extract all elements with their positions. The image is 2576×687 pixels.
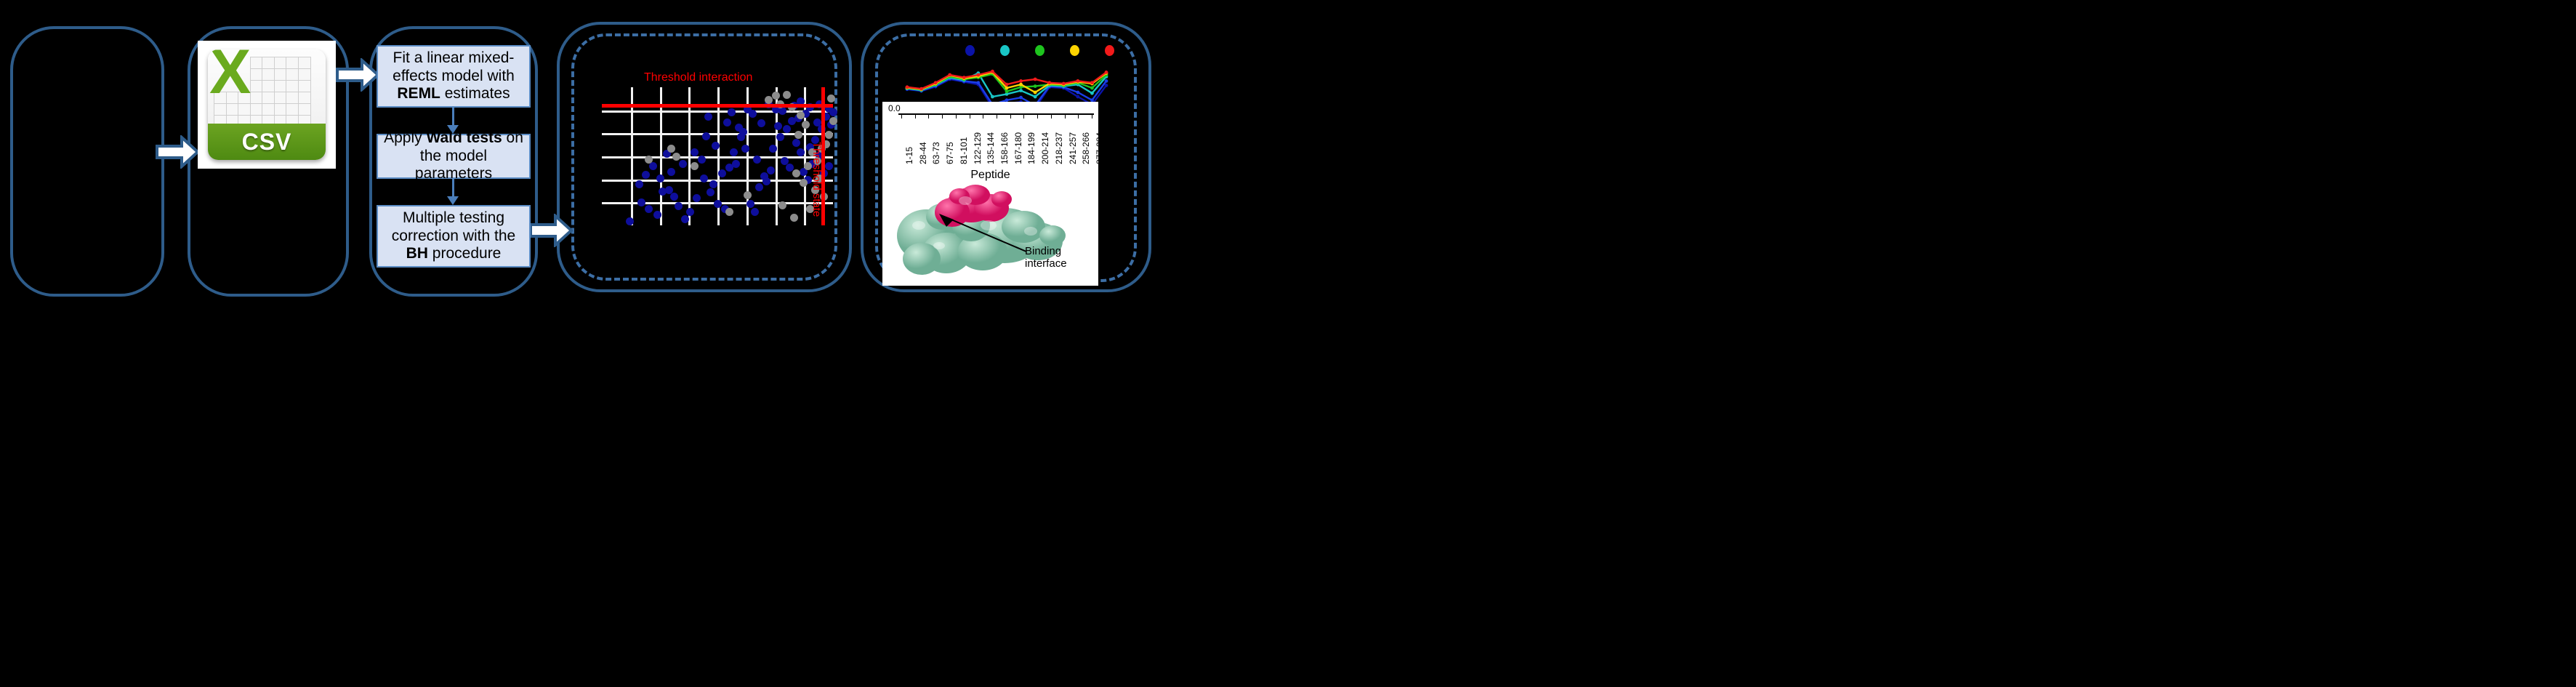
peptide-tick-label: 28-44 <box>918 142 928 164</box>
scatter-point-state <box>829 117 837 125</box>
flow-arrow-csv-to-stats <box>336 58 379 92</box>
legend-dot-green <box>1035 45 1045 56</box>
binding-interface-line2: interface <box>1025 258 1067 270</box>
line-marker-yellow <box>1005 87 1009 90</box>
x-axis-tick <box>997 113 997 118</box>
x-axis-ticks <box>898 113 1094 119</box>
scatter-gridline-v <box>660 87 662 225</box>
scatter-point-interaction <box>700 174 708 182</box>
threshold-interaction-label: Threshold interaction <box>644 71 752 84</box>
legend-dot-yellow <box>1070 45 1079 56</box>
line-marker-red <box>976 73 980 77</box>
scatter-point-interaction <box>645 205 653 213</box>
scatter-point-interaction <box>667 168 675 176</box>
scatter-gridline-v <box>631 87 633 225</box>
line-marker-blue <box>1019 96 1023 100</box>
scatter-point-state <box>667 145 675 153</box>
scatter-gridline-v <box>688 87 691 225</box>
line-marker-cyan <box>1090 92 1094 95</box>
line-marker-red <box>919 87 923 91</box>
csv-letter-x: X <box>209 49 254 102</box>
binding-interface-arrow <box>936 211 1031 256</box>
legend-dot-navy <box>965 45 975 56</box>
scatter-point-interaction <box>670 193 678 201</box>
scatter-point-state <box>794 131 802 139</box>
scatter-point-interaction <box>712 142 720 150</box>
x-axis-tick <box>915 113 916 118</box>
line-marker-green <box>1005 89 1009 93</box>
x-axis-label: Peptide <box>970 169 1010 182</box>
x-axis-tick <box>1023 113 1024 118</box>
peptide-tick-label: 67-75 <box>945 142 955 164</box>
scatter-point-interaction <box>714 200 722 208</box>
scatter-point-state <box>783 91 791 99</box>
scatter-point-interaction <box>732 160 740 168</box>
scatter-point-state <box>765 96 773 104</box>
scatter-point-interaction <box>792 139 800 147</box>
scatter-point-interaction <box>702 132 710 140</box>
peptide-tick-label: 135-144 <box>986 132 996 164</box>
line-marker-red <box>906 85 909 89</box>
x-axis-tick <box>983 113 983 118</box>
line-marker-blue <box>1105 79 1108 83</box>
scatter-point-interaction <box>686 208 694 216</box>
scatter-point-interaction <box>649 162 657 170</box>
line-marker-red <box>1005 83 1009 87</box>
scatter-point-interaction <box>635 180 643 188</box>
binding-interface-line1: Binding <box>1025 246 1067 258</box>
csv-file-icon: X CSV <box>198 41 336 169</box>
scatter-point-interaction <box>704 113 712 121</box>
line-marker-red <box>991 70 994 73</box>
peptide-tick-label: 158-166 <box>999 132 1010 164</box>
line-marker-red <box>1105 71 1108 74</box>
scatter-point-interaction <box>783 125 791 133</box>
line-marker-yellow <box>1034 91 1037 95</box>
line-marker-red <box>1076 79 1079 83</box>
scatter-point-interaction <box>749 110 757 118</box>
scatter-point-interaction <box>753 156 761 164</box>
x-axis-tick <box>942 113 943 118</box>
x-axis-tick <box>1051 113 1052 118</box>
peptide-tick-label: 200-214 <box>1040 132 1050 164</box>
csv-icon-card: X CSV <box>208 49 326 160</box>
multiple-testing-step: Multiple testing correction with the BH … <box>377 205 531 268</box>
wald-tests-step: Apply Wald tests on the model parameters <box>377 134 531 179</box>
threshold-state-label: Threshold state <box>810 142 823 217</box>
line-marker-red <box>1047 81 1051 84</box>
scatter-point-interaction <box>637 198 645 206</box>
line-marker-navy <box>1076 95 1079 99</box>
scatter-point-interaction <box>656 174 664 182</box>
peptide-tick-label: 277-284 <box>1095 132 1098 164</box>
x-axis-tick <box>1078 113 1079 118</box>
line-marker-red <box>948 73 951 77</box>
legend-dot-red <box>1105 45 1114 56</box>
x-axis-tick <box>928 113 929 118</box>
legend-dot-cyan <box>1000 45 1010 56</box>
scatter-point-interaction <box>751 208 759 216</box>
line-marker-cyan <box>1019 89 1023 92</box>
scatter-point-interaction <box>757 119 765 127</box>
flow-arrow-stats-to-scatter <box>529 214 573 247</box>
fit-model-step: Fit a linear mixed-effects model with RE… <box>377 45 531 108</box>
connector-arrow-1 <box>452 108 454 126</box>
scatter-point-state <box>772 92 780 100</box>
peptide-tick-label: 184-199 <box>1026 132 1037 164</box>
scatter-point-interaction <box>774 122 782 130</box>
scatter-point-interaction <box>691 148 699 156</box>
scatter-point-interaction <box>642 171 650 179</box>
csv-format-band: CSV <box>208 124 326 160</box>
line-marker-blue <box>1076 91 1079 95</box>
scatter-point-interaction <box>755 183 763 191</box>
series-legend <box>901 45 1112 58</box>
scatter-point-interaction <box>769 145 777 153</box>
multiple-testing-step-text: Multiple testing correction with the BH … <box>382 209 525 263</box>
peptide-tick-label: 241-257 <box>1068 132 1078 164</box>
scatter-point-interaction <box>709 180 717 188</box>
peptide-tick-label: 63-73 <box>931 142 941 164</box>
scatter-point-interaction <box>718 169 726 177</box>
x-axis-tick <box>1065 113 1066 118</box>
scatter-point-state <box>691 162 699 170</box>
line-marker-cyan <box>991 95 994 99</box>
scatter-point-interaction <box>693 194 701 202</box>
scatter-point-state <box>802 121 810 129</box>
line-marker-red <box>1062 82 1066 86</box>
results-white-card: 0.0 1-1528-4463-7367-7581-101122-129135-… <box>882 102 1098 286</box>
scatter-point-interaction <box>730 148 738 156</box>
scatter-point-interaction <box>681 215 689 223</box>
scatter-point-state <box>792 169 800 177</box>
line-marker-cyan <box>1034 95 1037 99</box>
scatter-point-state <box>744 191 752 199</box>
line-marker-yellow <box>1019 83 1023 87</box>
line-marker-green <box>1034 84 1037 88</box>
scatter-point-interaction <box>707 188 715 196</box>
x-axis-tick <box>1037 113 1038 118</box>
input-panel <box>10 26 164 297</box>
line-marker-red <box>1019 79 1023 83</box>
scatter-point-state <box>825 131 833 139</box>
scatter-point-interaction <box>778 107 786 115</box>
flow-arrow-input-to-csv <box>156 135 199 169</box>
line-marker-blue <box>976 81 980 84</box>
scatter-plot <box>602 87 833 225</box>
scatter-point-interaction <box>698 156 706 164</box>
scatter-point-state <box>672 153 680 161</box>
scatter-point-state <box>725 208 733 216</box>
scatter-point-state <box>778 201 786 209</box>
scatter-point-interaction <box>675 202 683 210</box>
scatter-point-interaction <box>762 177 770 185</box>
scatter-point-interaction <box>813 118 821 126</box>
line-marker-red <box>1090 81 1094 84</box>
peptide-tick-label: 122-129 <box>973 132 983 164</box>
scatter-point-state <box>645 156 653 164</box>
line-marker-navy <box>1105 84 1108 87</box>
scatter-point-interaction <box>746 200 754 208</box>
line-marker-red <box>1034 78 1037 81</box>
fit-model-step-text: Fit a linear mixed-effects model with RE… <box>382 49 525 103</box>
peptide-tick-label: 1-15 <box>904 147 914 164</box>
y-axis-tick-label: 0.0 <box>888 103 901 113</box>
scatter-point-interaction <box>767 166 775 174</box>
x-axis-tick <box>901 113 902 118</box>
scatter-point-state <box>827 95 835 103</box>
scatter-point-interaction <box>723 118 731 126</box>
scatter-point-interaction <box>728 108 736 116</box>
peptide-tick-label: 258-266 <box>1081 132 1091 164</box>
scatter-point-state <box>790 214 798 222</box>
peptide-tick-label: 167-180 <box>1013 132 1023 164</box>
scatter-point-interaction <box>741 145 749 153</box>
peptide-tick-label: 81-101 <box>959 137 969 164</box>
scatter-point-interaction <box>679 160 687 168</box>
x-axis-tick <box>956 113 957 118</box>
line-marker-red <box>962 76 966 79</box>
threshold-interaction-line <box>602 104 833 108</box>
line-marker-red <box>934 81 938 84</box>
binding-interface-label: Binding interface <box>1025 246 1067 270</box>
x-axis-tick <box>1092 113 1092 118</box>
x-axis-tick <box>1010 113 1011 118</box>
wald-tests-step-text: Apply Wald tests on the model parameters <box>382 129 525 183</box>
csv-format-label: CSV <box>242 129 292 156</box>
connector-arrow-2 <box>452 179 454 197</box>
x-axis-tick <box>970 113 970 118</box>
scatter-point-interaction <box>776 133 784 141</box>
line-marker-green <box>1090 87 1094 90</box>
scatter-point-state <box>800 179 808 187</box>
scatter-point-interaction <box>825 162 833 170</box>
peptide-tick-label: 218-237 <box>1054 132 1064 164</box>
scatter-point-interaction <box>739 128 747 136</box>
